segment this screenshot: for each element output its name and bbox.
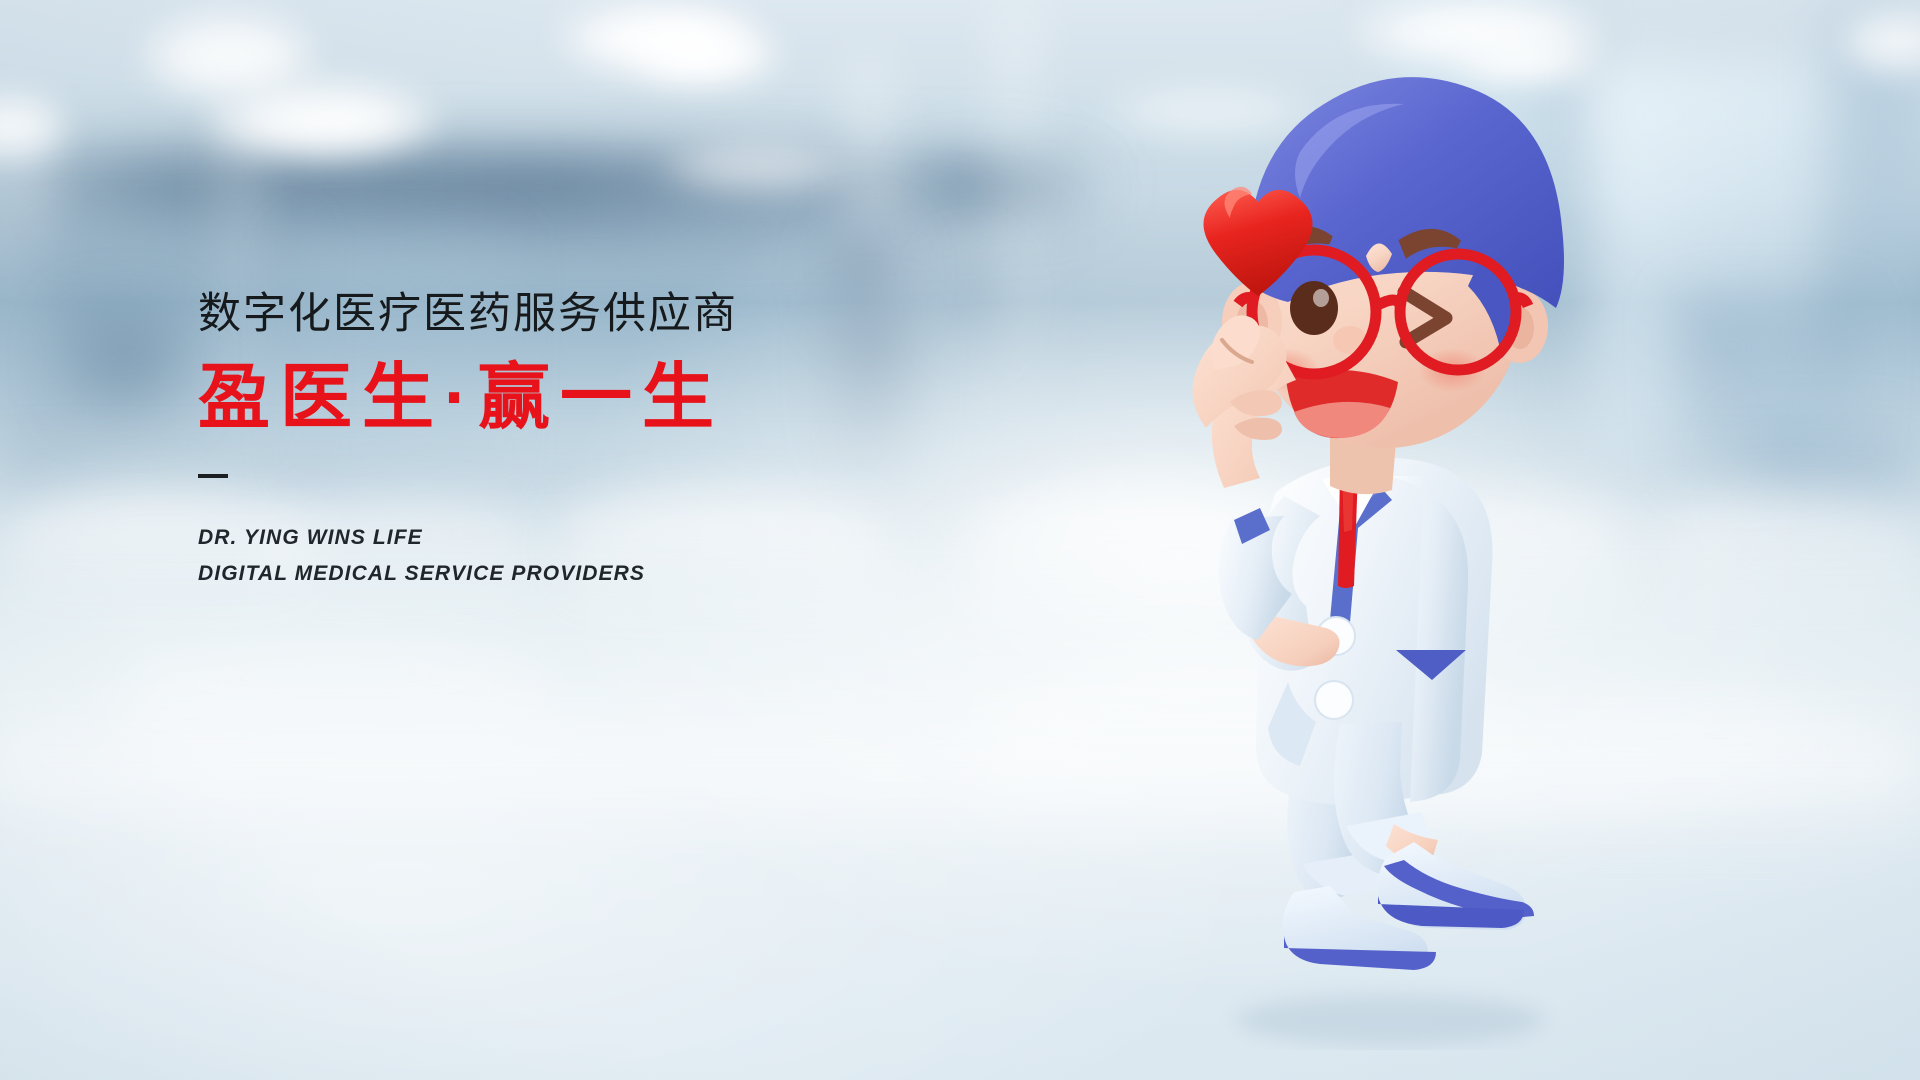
headline-subtitle: 数字化医疗医药服务供应商 xyxy=(198,292,1018,338)
mascot-arm-near xyxy=(1193,315,1296,640)
mascot-eye-open xyxy=(1290,281,1338,335)
mascot-shoe-front xyxy=(1378,842,1534,930)
divider-rule xyxy=(198,474,228,478)
english-line-2: DIGITAL MEDICAL SERVICE PROVIDERS xyxy=(198,556,1018,592)
headline-main: 盈医生·赢一生 xyxy=(198,360,1018,436)
english-tagline: DR. YING WINS LIFE DIGITAL MEDICAL SERVI… xyxy=(198,520,1018,592)
doctor-mascot xyxy=(1190,40,1660,1050)
hero-banner: 数字化医疗医药服务供应商 盈医生·赢一生 DR. YING WINS LIFE … xyxy=(0,0,1920,1080)
mascot-shadow xyxy=(1235,994,1545,1046)
english-line-1: DR. YING WINS LIFE xyxy=(198,520,1018,556)
hero-copy: 数字化医疗医药服务供应商 盈医生·赢一生 DR. YING WINS LIFE … xyxy=(198,292,1018,592)
